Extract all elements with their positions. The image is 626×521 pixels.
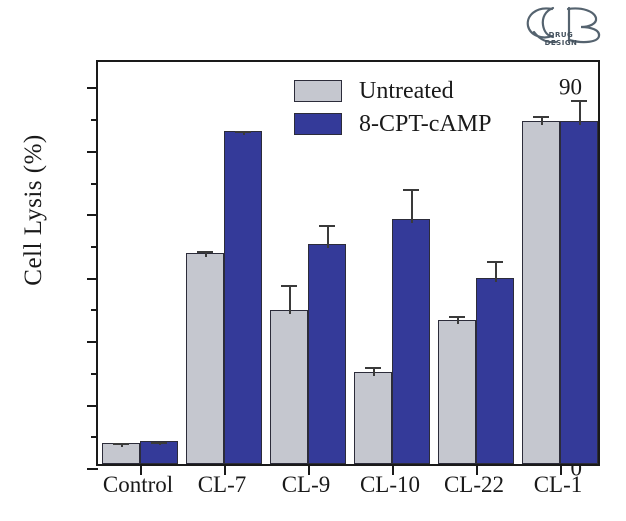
error-bar-cap xyxy=(449,316,465,318)
x-tick-label: Control xyxy=(103,472,173,498)
bar-cl-9-untreated xyxy=(270,310,308,464)
y-tick-major xyxy=(87,151,98,153)
error-bar-cap xyxy=(365,367,381,369)
legend-label-untreated: Untreated xyxy=(359,79,454,103)
x-tick-label: CL-10 xyxy=(360,472,420,498)
error-bar-cap xyxy=(533,116,549,118)
error-bar-stem xyxy=(327,225,329,248)
bar-cl-7-untreated xyxy=(186,253,224,464)
y-tick-label: 90 xyxy=(522,76,582,99)
bar-cl-22-untreated xyxy=(438,320,476,464)
legend-swatch-untreated xyxy=(294,80,342,102)
bar-cl-9-treated xyxy=(308,244,346,464)
bar-cl-10-untreated xyxy=(354,372,392,464)
y-tick-minor xyxy=(91,119,98,121)
x-tick-label: CL-9 xyxy=(282,472,331,498)
error-bar-stem xyxy=(579,100,581,125)
legend-item-treated: 8-CPT-cAMP xyxy=(294,107,491,140)
legend-swatch-treated xyxy=(294,113,342,135)
x-tick-label: CL-7 xyxy=(198,472,247,498)
y-tick-major xyxy=(87,468,98,470)
error-bar-cap xyxy=(281,285,297,287)
y-tick-minor xyxy=(91,373,98,375)
error-bar-cap xyxy=(113,443,129,445)
y-tick-major xyxy=(87,405,98,407)
x-tick-label: CL-22 xyxy=(444,472,504,498)
y-tick-major xyxy=(87,214,98,216)
x-tick-label: CL-1 xyxy=(534,472,583,498)
error-bar-stem xyxy=(495,261,497,282)
error-bar-stem xyxy=(289,285,291,314)
bar-cl-1-untreated xyxy=(522,121,560,464)
error-bar-cap xyxy=(151,442,167,444)
legend-item-untreated: Untreated xyxy=(294,74,491,107)
y-tick-minor xyxy=(91,309,98,311)
error-bar-cap xyxy=(403,189,419,191)
plot-area: 0153045607590 Untreated 8-CPT-cAMP xyxy=(96,60,600,466)
y-tick-major xyxy=(87,87,98,89)
bar-chart-figure: Cell Lysis (%) 0153045607590 Untreated 8… xyxy=(0,0,626,521)
error-bar-stem xyxy=(411,189,413,223)
bar-cl-22-treated xyxy=(476,278,514,464)
y-tick-major xyxy=(87,341,98,343)
chart-legend: Untreated 8-CPT-cAMP xyxy=(294,74,491,140)
y-tick-minor xyxy=(91,246,98,248)
y-tick-minor xyxy=(91,436,98,438)
error-bar-cap xyxy=(571,100,587,102)
bar-cl-1-treated xyxy=(560,121,598,464)
y-axis-title: Cell Lysis (%) xyxy=(20,90,48,330)
error-bar-cap xyxy=(319,225,335,227)
error-bar-cap xyxy=(197,251,213,253)
error-bar-cap xyxy=(487,261,503,263)
legend-label-treated: 8-CPT-cAMP xyxy=(359,112,491,136)
y-tick-minor xyxy=(91,183,98,185)
y-tick-major xyxy=(87,278,98,280)
error-bar-cap xyxy=(235,131,251,133)
bar-cl-10-treated xyxy=(392,219,430,464)
bar-cl-7-treated xyxy=(224,131,262,464)
